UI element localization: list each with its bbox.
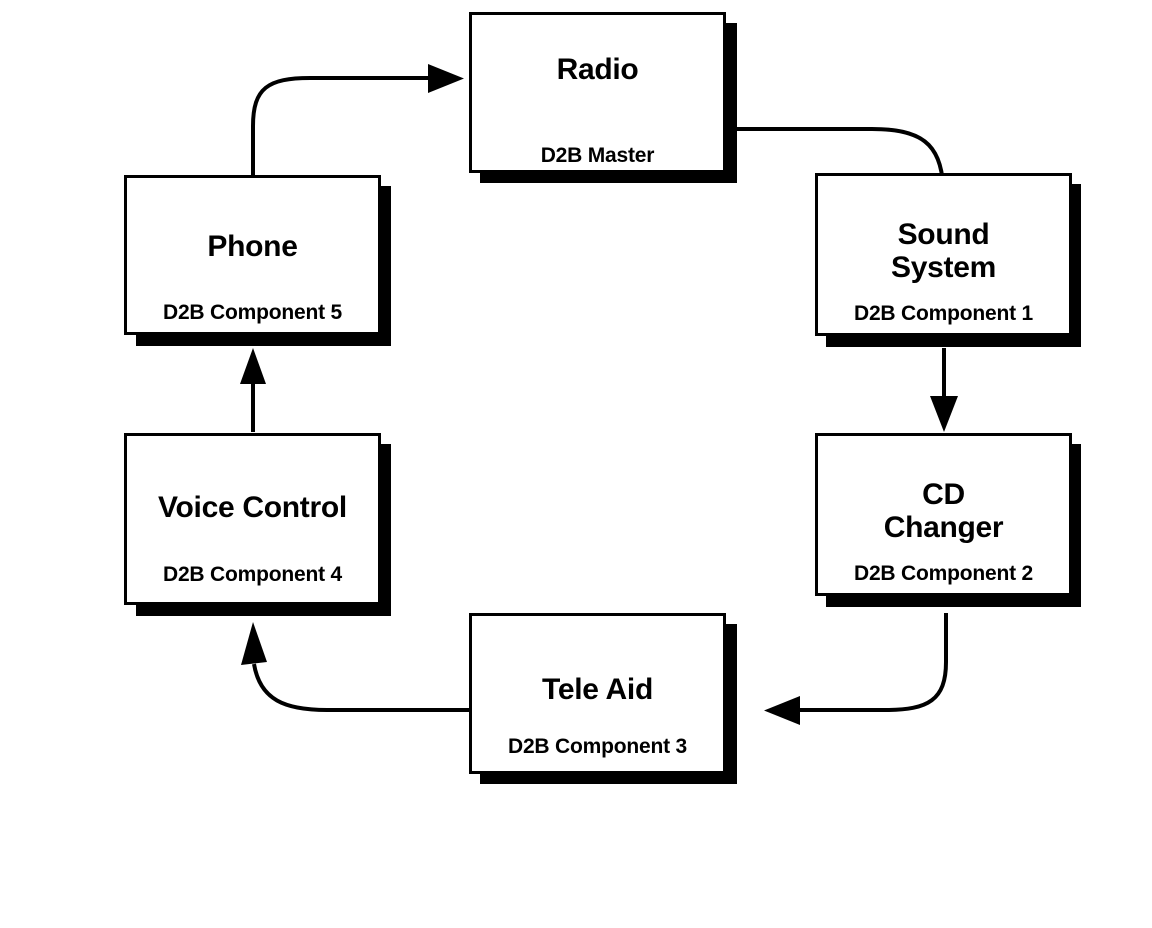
node-sound-system[interactable]: Sound System D2B Component 1 [815, 173, 1072, 336]
node-tele-aid-title: Tele Aid [472, 673, 723, 706]
node-voice-control-subtitle: D2B Component 4 [127, 564, 378, 586]
d2b-ring-diagram: Radio D2B Master Sound System D2B Compon… [0, 0, 1152, 928]
node-cd-changer[interactable]: CD Changer D2B Component 2 [815, 433, 1072, 596]
node-cd-changer-title-line1: CD [818, 478, 1069, 511]
edge-tele-voice [241, 622, 469, 710]
node-phone-title: Phone [127, 230, 378, 263]
node-tele-aid-subtitle: D2B Component 3 [472, 736, 723, 758]
node-sound-system-title-line1: Sound [818, 218, 1069, 251]
node-cd-changer-subtitle: D2B Component 2 [818, 563, 1069, 585]
node-cd-changer-title: CD Changer [818, 478, 1069, 544]
node-phone[interactable]: Phone D2B Component 5 [124, 175, 381, 335]
node-radio-subtitle: D2B Master [472, 145, 723, 167]
node-phone-subtitle: D2B Component 5 [127, 302, 378, 324]
edge-voice-phone [240, 348, 266, 432]
node-voice-control[interactable]: Voice Control D2B Component 4 [124, 433, 381, 605]
node-sound-system-title-line2: System [818, 251, 1069, 284]
node-sound-system-subtitle: D2B Component 1 [818, 303, 1069, 325]
edge-cd-tele [764, 613, 946, 725]
node-voice-control-title: Voice Control [127, 491, 378, 524]
edge-sound-cd [930, 348, 958, 432]
edge-phone-radio [253, 64, 464, 175]
node-tele-aid[interactable]: Tele Aid D2B Component 3 [469, 613, 726, 774]
node-sound-system-title: Sound System [818, 218, 1069, 284]
node-radio[interactable]: Radio D2B Master [469, 12, 726, 173]
node-radio-title: Radio [472, 53, 723, 86]
node-cd-changer-title-line2: Changer [818, 511, 1069, 544]
